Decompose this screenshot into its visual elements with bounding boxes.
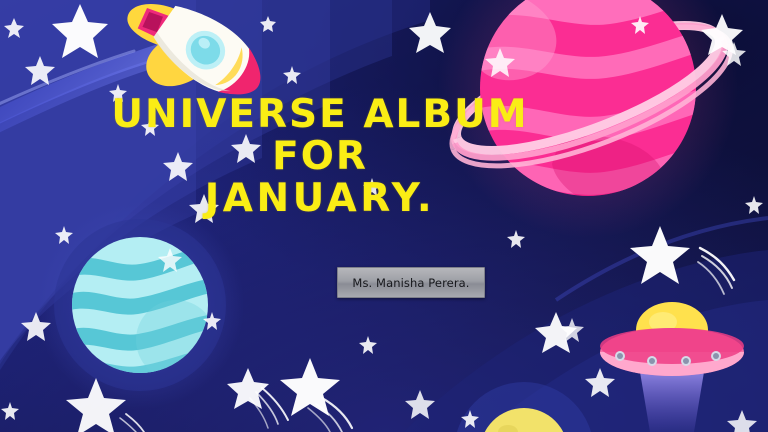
ufo-beam bbox=[640, 372, 704, 432]
slide-canvas: UNIVERSE ALBUM FOR JANUARY. Ms. Manisha … bbox=[0, 0, 768, 432]
shooting-star-right bbox=[698, 248, 734, 294]
subtitle-text: Ms. Manisha Perera. bbox=[352, 276, 469, 290]
ringed-planet-pink bbox=[435, 0, 746, 238]
shooting-star-left bbox=[120, 414, 144, 432]
subtitle-textbox[interactable]: Ms. Manisha Perera. bbox=[337, 267, 485, 298]
space-artwork bbox=[0, 0, 768, 432]
ufo-saucer bbox=[600, 302, 744, 432]
moon-yellow bbox=[454, 382, 594, 432]
rocket-ship bbox=[105, 0, 276, 132]
